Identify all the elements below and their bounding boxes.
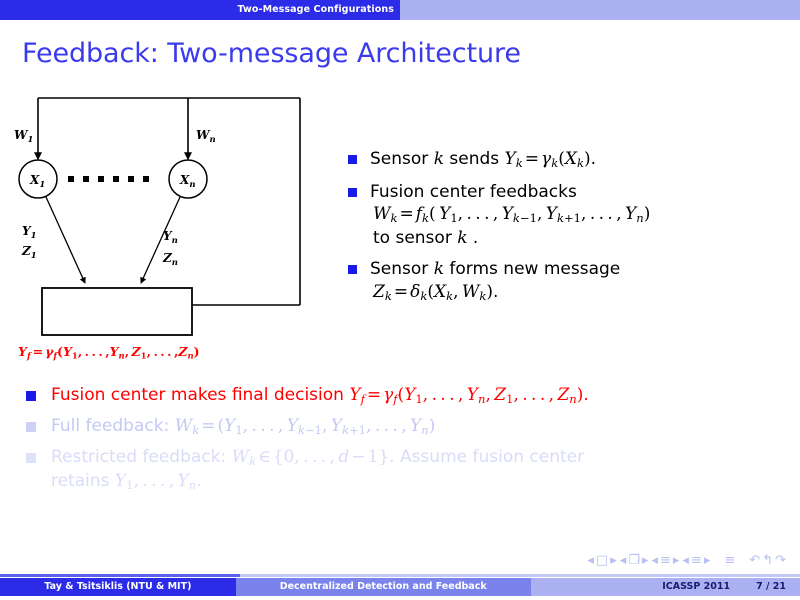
nav-slide-group[interactable]: ◂ □ ▸	[587, 553, 616, 568]
bullet-full-feedback: Full feedback: Wk=(Y1, . . . , Yk−1, Yk+…	[26, 415, 786, 439]
nav-subsection-group[interactable]: ◂ ≡ ▸	[651, 553, 679, 568]
nav-prev-slide-icon[interactable]: ◂	[587, 553, 594, 568]
label-msg-yn: Yn	[163, 229, 178, 246]
label-msg-zn: Zn	[162, 251, 178, 268]
right-bullet-list: Sensor k sends Yk=γk(Xk). Fusion center …	[348, 148, 796, 314]
bullet-line: Restricted feedback: Wk∈{0, . . . , d−1}…	[51, 446, 786, 470]
nav-slide-icon[interactable]: □	[596, 553, 608, 568]
nav-frame-group[interactable]: ◂ ❐ ▸	[620, 553, 649, 568]
bullet-line: retains Y1, . . . , Yn.	[51, 470, 786, 494]
footer-meta: ICASSP 2011 7 / 21	[531, 578, 800, 596]
fusion-output-formula: Yf=γf(Y1, . . . ,Yn, Z1, . . . ,Zn)	[18, 344, 200, 361]
nav-back-icon[interactable]: ↶	[749, 553, 760, 568]
nav-prev-frame-icon[interactable]: ◂	[620, 553, 627, 568]
bullet-line: Sensor k forms new message	[370, 258, 796, 281]
bullet-square-icon	[348, 155, 357, 164]
nav-subsection-icon[interactable]: ≡	[660, 553, 671, 568]
footer-divider-dark	[0, 574, 240, 577]
nav-doc-icon[interactable]: ≡	[724, 553, 735, 568]
nav-next-frame-icon[interactable]: ▸	[642, 553, 649, 568]
nav-prev-section-icon[interactable]: ◂	[682, 553, 689, 568]
footer-bar: Tay & Tsitsiklis (NTU & MIT) Decentraliz…	[0, 578, 800, 596]
bullet-line: Zk=δk(Xk, Wk).	[370, 281, 796, 305]
bullet-line: to sensor k .	[370, 227, 796, 250]
nav-section-group[interactable]: ◂ ≡ ▸	[682, 553, 710, 568]
footer-author: Tay & Tsitsiklis (NTU & MIT)	[0, 578, 236, 596]
bullet-line: Wk=fk( Y1, . . . , Yk−1, Yk+1, . . . , Y…	[370, 203, 796, 227]
bottom-bullet-list: Fusion center makes final decision Yf=γf…	[26, 384, 786, 500]
nav-frame-icon[interactable]: ❐	[628, 553, 640, 568]
label-msg-y1: Y1	[22, 224, 37, 241]
bullet-sensor-sends: Sensor k sends Yk=γk(Xk).	[348, 148, 796, 172]
bullet-fusion-center-final-decision: Fusion center makes final decision Yf=γf…	[26, 384, 786, 408]
footer-conference: ICASSP 2011	[662, 578, 730, 596]
label-msg-z1: Z1	[21, 244, 37, 261]
label-feedback-w1: W1	[14, 128, 33, 145]
architecture-diagram: W1 Wn X1 Xn Y1 Z1 Yn Zn	[0, 85, 340, 375]
ellipsis-dots	[68, 176, 149, 182]
beamer-navigation-bar[interactable]: ◂ □ ▸ ◂ ❐ ▸ ◂ ≡ ▸ ◂ ≡ ▸ ≡ ↶ ↰ ↷	[587, 551, 786, 569]
fusion-center-box	[42, 288, 192, 335]
bullet-line: Fusion center feedbacks	[370, 181, 796, 204]
footer-subject: Decentralized Detection and Feedback	[236, 578, 531, 596]
bullet-line: Fusion center makes final decision Yf=γf…	[51, 384, 786, 408]
bullet-fusion-center-feedbacks: Fusion center feedbacks Wk=fk( Y1, . . .…	[348, 181, 796, 250]
footer-page-number: 7 / 21	[756, 578, 786, 596]
nav-history-group[interactable]: ↶ ↰ ↷	[749, 553, 786, 568]
nav-section-icon[interactable]: ≡	[691, 553, 702, 568]
footer-divider	[0, 574, 800, 577]
label-feedback-wn: Wn	[196, 128, 216, 145]
bullet-restricted-feedback: Restricted feedback: Wk∈{0, . . . , d−1}…	[26, 446, 786, 494]
nav-prev-subsection-icon[interactable]: ◂	[651, 553, 658, 568]
page-title: Feedback: Two-message Architecture	[22, 38, 521, 69]
nav-forward-icon[interactable]: ↷	[775, 553, 786, 568]
nav-next-subsection-icon[interactable]: ▸	[673, 553, 680, 568]
footer-divider-light	[240, 574, 800, 577]
nav-search-icon[interactable]: ↰	[762, 553, 773, 568]
bullet-line: Sensor k sends Yk=γk(Xk).	[370, 148, 796, 172]
message-arrow-sensor-1	[46, 197, 85, 283]
bullet-square-icon	[348, 265, 357, 274]
bullet-line: Full feedback: Wk=(Y1, . . . , Yk−1, Yk+…	[51, 415, 786, 439]
nav-next-section-icon[interactable]: ▸	[704, 553, 711, 568]
bullet-square-icon	[26, 422, 36, 432]
section-title: Two-Message Configurations	[0, 0, 394, 20]
nav-next-slide-icon[interactable]: ▸	[610, 553, 617, 568]
bullet-sensor-forms-new-message: Sensor k forms new message Zk=δk(Xk, Wk)…	[348, 258, 796, 304]
bullet-square-icon	[26, 453, 36, 463]
header-bar: Two-Message Configurations	[0, 0, 800, 20]
bullet-square-icon	[348, 188, 357, 197]
bullet-square-icon	[26, 391, 36, 401]
